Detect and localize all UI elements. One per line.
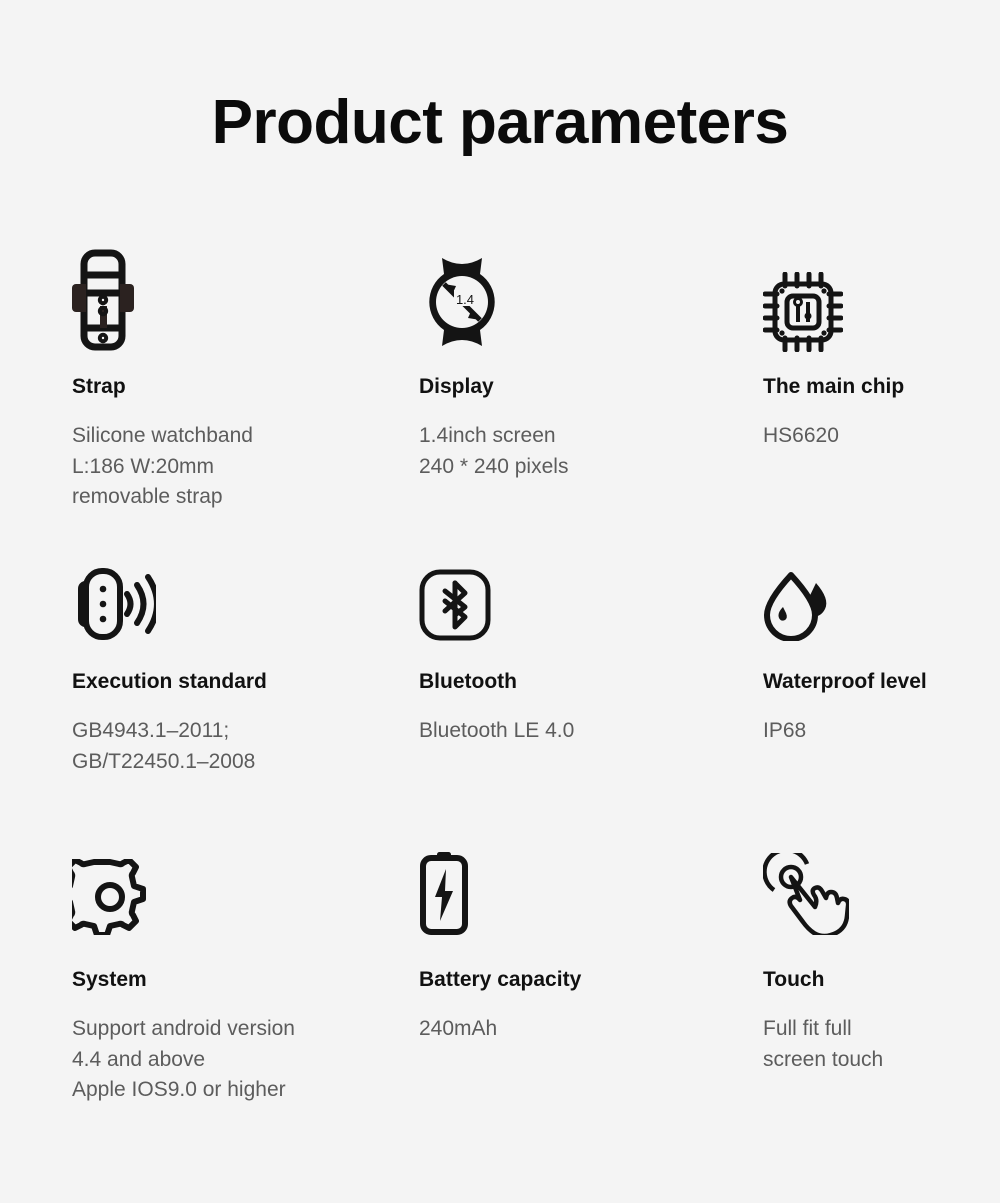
battery-icon xyxy=(419,831,763,935)
spec-cell-waterproof: Waterproof level IP68 xyxy=(763,541,1000,831)
watch-strap-icon xyxy=(72,248,419,352)
spec-line: GB/T22450.1–2008 xyxy=(72,747,419,777)
spec-title: Bluetooth xyxy=(419,669,763,694)
page-title: Product parameters xyxy=(0,92,1000,154)
bluetooth-icon xyxy=(419,541,763,641)
spec-cell-bluetooth: Bluetooth Bluetooth LE 4.0 xyxy=(419,541,763,831)
spec-line: HS6620 xyxy=(763,421,1000,451)
spec-line: Silicone watchband xyxy=(72,421,419,451)
spec-line: 240mAh xyxy=(419,1014,763,1044)
display-size-label: 1.4 xyxy=(456,292,474,307)
spec-description: 1.4inch screen 240 * 240 pixels xyxy=(419,421,763,482)
spec-line: 240 * 240 pixels xyxy=(419,452,763,482)
water-drop-icon xyxy=(763,541,1000,641)
spec-description: 240mAh xyxy=(419,1014,763,1044)
spec-line: screen touch xyxy=(763,1045,1000,1075)
signal-device-icon xyxy=(72,541,419,641)
spec-cell-strap: Strap Silicone watchband L:186 W:20mm re… xyxy=(72,248,419,541)
chip-icon xyxy=(763,248,1000,352)
spec-description: Full fit full screen touch xyxy=(763,1014,1000,1075)
spec-line: Apple IOS9.0 or higher xyxy=(72,1075,419,1105)
spec-grid: Strap Silicone watchband L:186 W:20mm re… xyxy=(72,248,1000,1106)
spec-description: Bluetooth LE 4.0 xyxy=(419,716,763,746)
spec-line: GB4943.1–2011; xyxy=(72,716,419,746)
spec-cell-battery: Battery capacity 240mAh xyxy=(419,831,763,1106)
spec-line: Full fit full xyxy=(763,1014,1000,1044)
spec-title: Battery capacity xyxy=(419,967,763,992)
spec-description: IP68 xyxy=(763,716,1000,746)
product-parameters-page: Product parameters xyxy=(0,0,1000,1203)
spec-description: Support android version 4.4 and above Ap… xyxy=(72,1014,419,1105)
spec-line: removable strap xyxy=(72,482,419,512)
spec-description: HS6620 xyxy=(763,421,1000,451)
spec-line: 1.4inch screen xyxy=(419,421,763,451)
watch-display-icon: 1.4 xyxy=(419,248,763,352)
spec-title: Display xyxy=(419,374,763,399)
touch-hand-icon xyxy=(763,831,1000,935)
spec-line: Bluetooth LE 4.0 xyxy=(419,716,763,746)
spec-title: Waterproof level xyxy=(763,669,1000,694)
spec-cell-display: 1.4 Display 1.4inch screen 240 * 240 pix… xyxy=(419,248,763,541)
spec-cell-system: System Support android version 4.4 and a… xyxy=(72,831,419,1106)
spec-title: System xyxy=(72,967,419,992)
spec-line: L:186 W:20mm xyxy=(72,452,419,482)
spec-description: GB4943.1–2011; GB/T22450.1–2008 xyxy=(72,716,419,777)
spec-title: Touch xyxy=(763,967,1000,992)
gear-icon xyxy=(72,831,419,935)
spec-title: Execution standard xyxy=(72,669,419,694)
spec-cell-main-chip: The main chip HS6620 xyxy=(763,248,1000,541)
spec-title: The main chip xyxy=(763,374,1000,399)
spec-line: 4.4 and above xyxy=(72,1045,419,1075)
spec-cell-execution-standard: Execution standard GB4943.1–2011; GB/T22… xyxy=(72,541,419,831)
spec-description: Silicone watchband L:186 W:20mm removabl… xyxy=(72,421,419,512)
spec-line: IP68 xyxy=(763,716,1000,746)
spec-title: Strap xyxy=(72,374,419,399)
spec-cell-touch: Touch Full fit full screen touch xyxy=(763,831,1000,1106)
spec-line: Support android version xyxy=(72,1014,419,1044)
